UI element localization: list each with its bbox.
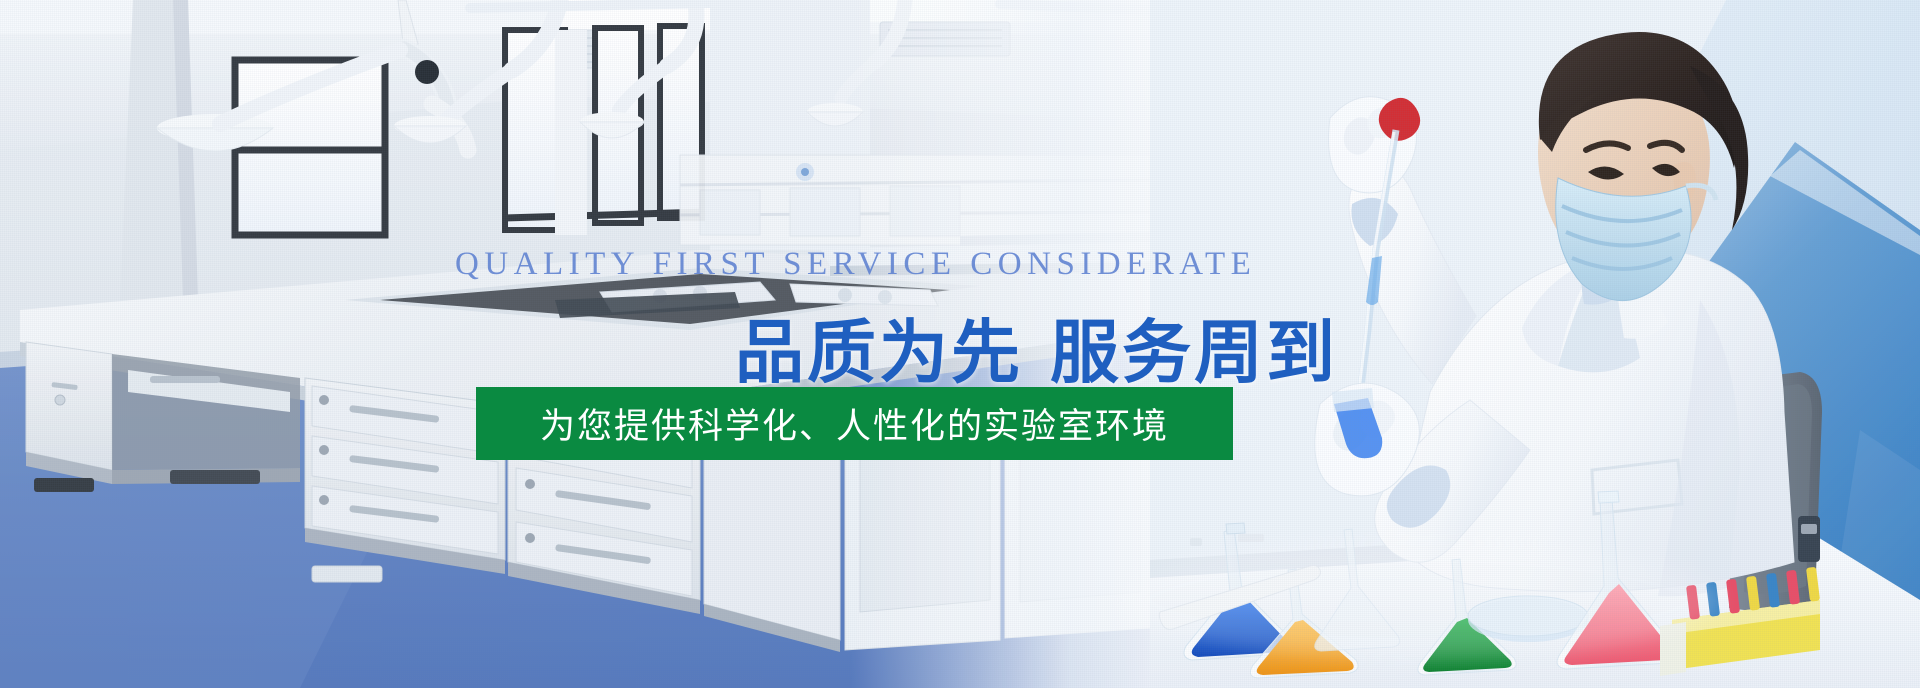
hero-banner: QUALITY FIRST SERVICE CONSIDERATE 品质为先 服… (0, 0, 1920, 688)
banner-photo-scene (0, 0, 1920, 688)
